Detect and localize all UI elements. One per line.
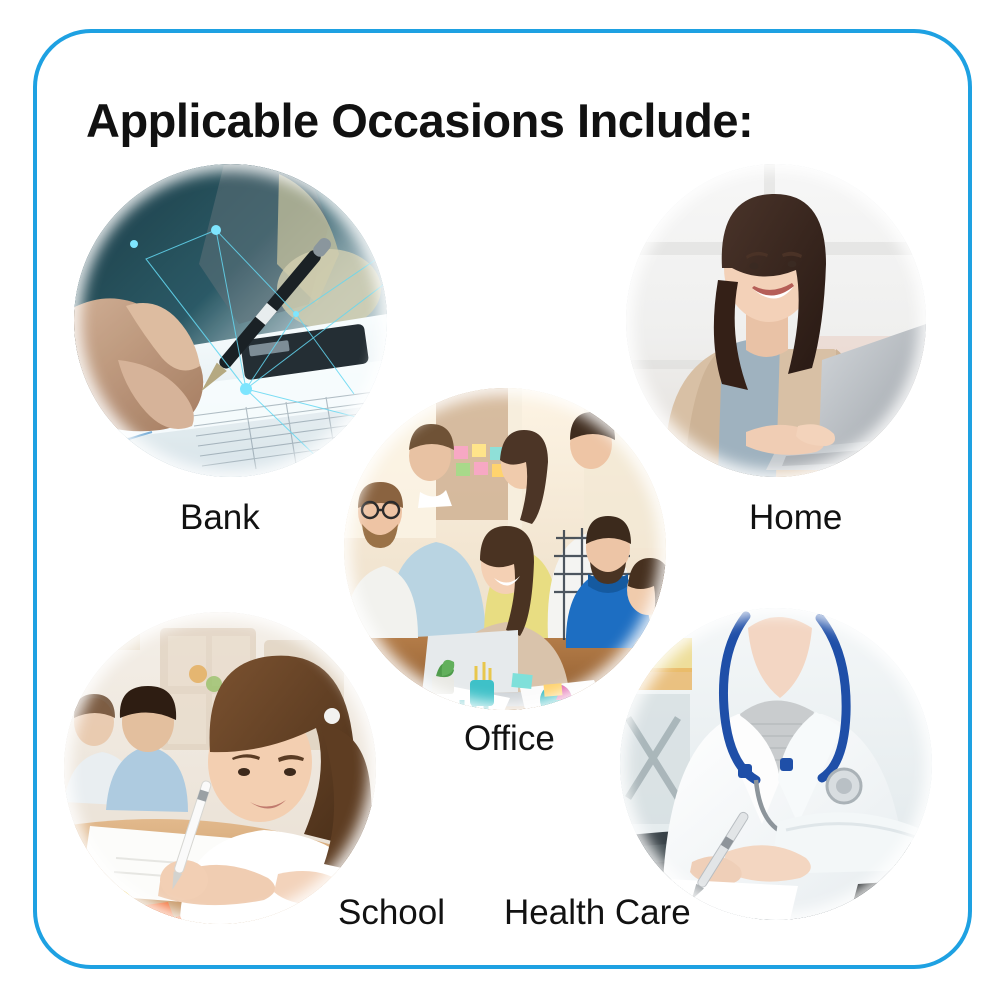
- caption-office: Office: [464, 719, 555, 759]
- caption-home: Home: [749, 498, 842, 538]
- office-photo: [344, 388, 666, 710]
- page-title: Applicable Occasions Include:: [86, 93, 753, 148]
- home-photo: [626, 164, 926, 477]
- caption-health-care: Health Care: [504, 893, 691, 933]
- bank-photo: [74, 164, 387, 477]
- promo-banner: Applicable Occasions Include:: [0, 0, 1000, 1000]
- school-photo: [64, 612, 376, 924]
- caption-school: School: [338, 893, 445, 933]
- health-care-photo: [620, 608, 932, 920]
- caption-bank: Bank: [180, 498, 260, 538]
